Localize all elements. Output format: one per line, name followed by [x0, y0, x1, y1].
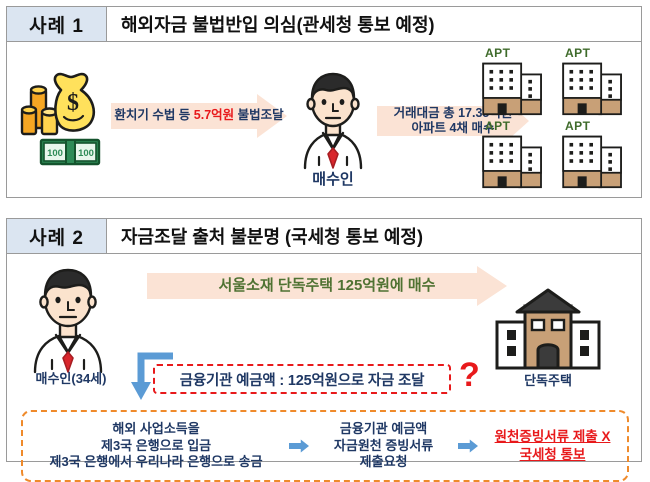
- case-2-title: 자금조달 출처 불분명 (국세청 통보 예정): [107, 219, 641, 253]
- apartment-item: APT: [471, 46, 551, 119]
- funding-source-box: 금융기관 예금액 : 125억원으로 자금 조달: [153, 364, 451, 394]
- apartment-icon: [557, 133, 629, 189]
- apartment-icon: [477, 133, 549, 189]
- person-icon: [23, 260, 119, 376]
- apt-label: APT: [485, 46, 511, 60]
- apartment-item: APT: [471, 119, 551, 192]
- case-1-header: 사례 1 해외자금 불법반입 의심(관세청 통보 예정): [7, 7, 641, 42]
- right-arrow-icon: [458, 435, 478, 457]
- case-1-title: 해외자금 불법반입 의심(관세청 통보 예정): [107, 7, 641, 41]
- flow-step-1-line-2: 제3국 은행으로 입금: [101, 438, 211, 455]
- apartment-icon: [477, 60, 549, 116]
- buyer-figure-case-1: 매수인: [293, 64, 373, 172]
- money-bag-icon: $ 100 100: [17, 64, 109, 168]
- apartment-item: APT: [551, 46, 631, 119]
- case-1-arrow-1-label: 환치기 수법 등 5.7억원 불법조달: [111, 94, 309, 138]
- right-arrow-icon: [289, 435, 309, 457]
- flow-step-3-line-2: 국세청 통보: [520, 446, 586, 464]
- case-2-tag: 사례 2: [7, 219, 107, 253]
- infographic-page: 사례 1 해외자금 불법반입 의심(관세청 통보 예정) $: [0, 0, 650, 468]
- arrow-1-suffix: 불법조달: [234, 108, 283, 122]
- flow-step-2-line-2: 자금원천 증빙서류: [334, 438, 433, 455]
- funding-flow-panel: 해외 사업소득을 제3국 은행으로 입금 제3국 은행에서 우리나라 은행으로 …: [21, 410, 629, 482]
- flow-step-1-line-3: 제3국 은행에서 우리나라 은행으로 송금: [50, 454, 263, 471]
- apartment-icon: [557, 60, 629, 116]
- flow-step-2: 금융기관 예금액 자금원천 증빙서류 제출요청: [309, 421, 458, 472]
- apt-label: APT: [565, 46, 591, 60]
- case-2-body: 매수인(34세) 서울소재 단독주택 125억원에 매수 금융기관 예금액 : …: [7, 254, 641, 461]
- question-mark: ?: [459, 356, 480, 395]
- cash-value-left: 100: [47, 148, 63, 159]
- flow-step-3: 원천증빙서류 제출 X 국세청 통보: [478, 428, 627, 463]
- apartment-group: APT: [471, 46, 631, 192]
- buyer-label-case-1: 매수인: [293, 168, 373, 189]
- flow-step-3-line-1: 원천증빙서류 제출 X: [495, 428, 611, 446]
- flow-step-1-line-1: 해외 사업소득을: [112, 421, 199, 438]
- case-panel-2: 사례 2 자금조달 출처 불분명 (국세청 통보 예정): [6, 218, 642, 462]
- case-panel-1: 사례 1 해외자금 불법반입 의심(관세청 통보 예정) $: [6, 6, 642, 198]
- flow-arrow-2: [458, 435, 478, 457]
- apt-label: APT: [485, 119, 511, 133]
- person-icon: [293, 64, 373, 172]
- case-1-tag: 사례 1: [7, 7, 107, 41]
- arrow-1-amount: 5.7억원: [194, 108, 234, 122]
- flow-step-2-line-1: 금융기관 예금액: [340, 421, 427, 438]
- apartment-item: APT: [551, 119, 631, 192]
- arrow-1-prefix: 환치기 수법 등: [114, 108, 193, 122]
- case-1-arrow-1: 환치기 수법 등 5.7억원 불법조달: [111, 94, 287, 138]
- detached-house-icon: [493, 288, 603, 370]
- case-2-arrow: 서울소재 단독주택 125억원에 매수: [147, 266, 507, 306]
- house-label: 단독주택: [493, 370, 603, 389]
- flow-step-2-line-3: 제출요청: [360, 454, 408, 471]
- flow-step-1: 해외 사업소득을 제3국 은행으로 입금 제3국 은행에서 우리나라 은행으로 …: [23, 421, 289, 472]
- svg-text:$: $: [67, 90, 79, 116]
- flow-arrow-1: [289, 435, 309, 457]
- case-2-arrow-label: 서울소재 단독주택 125억원에 매수: [147, 266, 533, 306]
- cash-value-right: 100: [78, 148, 94, 159]
- apt-label: APT: [565, 119, 591, 133]
- case-1-body: $ 100 100 환치기 수법 등 5.7억원 불법조달: [7, 42, 641, 197]
- case-2-header: 사례 2 자금조달 출처 불분명 (국세청 통보 예정): [7, 219, 641, 254]
- buyer-figure-case-2: 매수인(34세): [23, 260, 119, 376]
- buyer-label-case-2: 매수인(34세): [23, 368, 119, 387]
